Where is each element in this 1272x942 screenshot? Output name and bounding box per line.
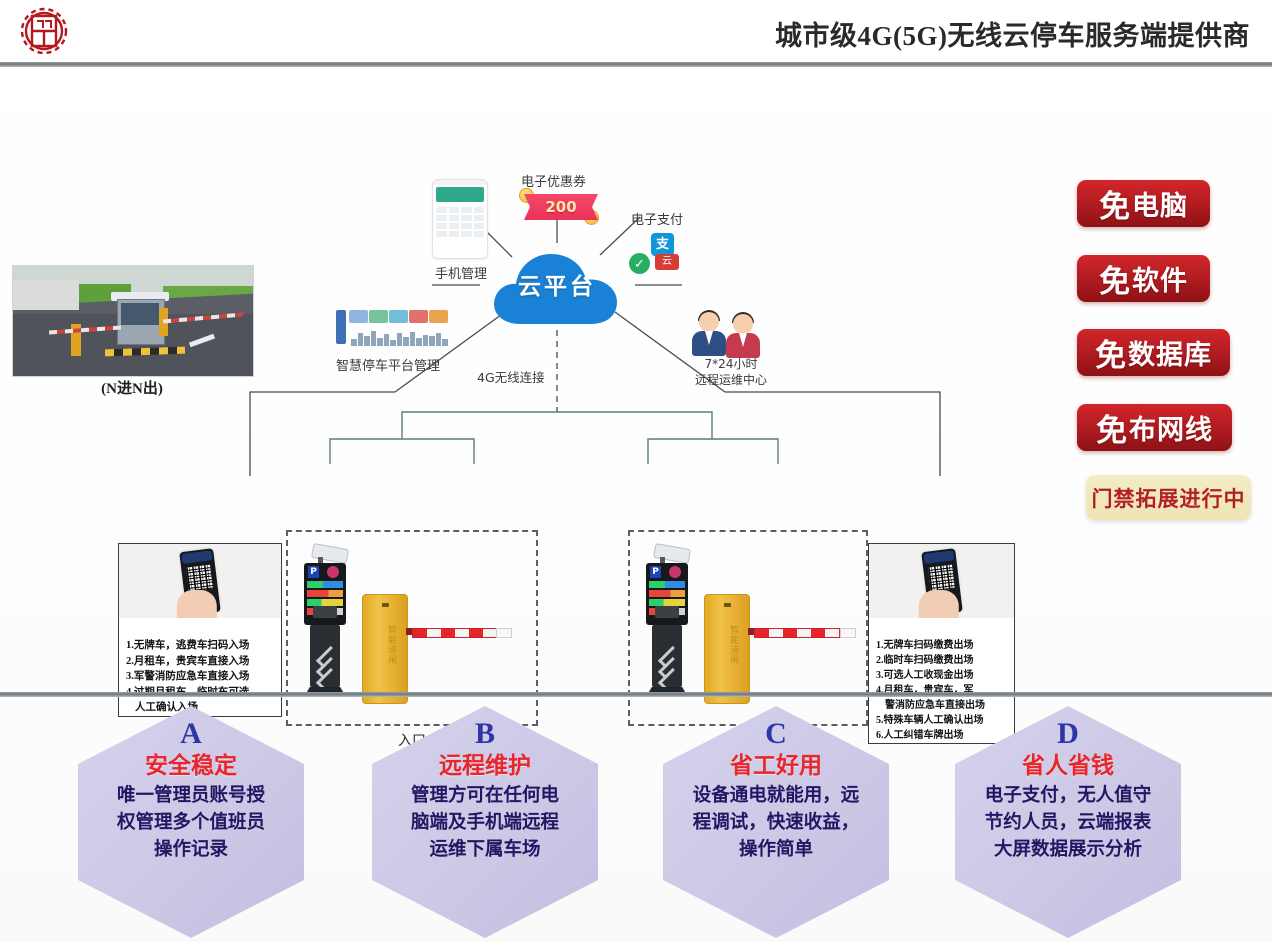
unionpay-icon: 云	[655, 254, 679, 270]
section-divider	[0, 692, 1272, 697]
badge-first-char: 免	[1096, 405, 1128, 450]
entrance-rules-box: 1.无牌车，逃费车扫码入场 2.月租车，贵宾车直接入场 3.军警消防应急车直接入…	[118, 543, 282, 717]
list-item: 1.无牌车扫码缴费出场	[876, 638, 1009, 653]
list-item: 2.月租车，贵宾车直接入场	[126, 654, 276, 670]
badge-no-network-cable: 免 布网线	[1077, 404, 1232, 451]
feature-hexagon-d: D 省人省钱 电子支付，无人值守 节约人员，云端报表 大屏数据展示分析	[955, 706, 1181, 938]
header-bar: 城市级4G(5G)无线云停车服务端提供商	[0, 0, 1272, 62]
alipay-icon: 支	[651, 233, 674, 256]
entrance-barrier-gate: 智能道闸	[362, 594, 406, 702]
parking-p-sign: P	[308, 566, 319, 578]
node-label-remote-ops-line1: 7*24小时	[676, 357, 786, 372]
parking-lot-photo	[12, 265, 254, 377]
badge-first-char: 免	[1099, 256, 1131, 301]
list-item: 3.可选人工收现金出场	[876, 668, 1009, 683]
list-item: 3.军警消防应急车直接入场	[126, 669, 276, 685]
qr-scan-photo	[869, 544, 1014, 618]
wireless-link-label: 4G无线连接	[474, 367, 548, 386]
support-agents-icon	[692, 312, 768, 356]
badge-text: 门禁拓展进行中	[1092, 483, 1246, 513]
coupon-icon: 200	[524, 190, 598, 224]
dashboard-icon	[336, 310, 448, 352]
feature-title: 省人省钱	[955, 752, 1181, 780]
feature-line: 唯一管理员账号授	[86, 783, 296, 810]
feature-letter: A	[78, 718, 304, 750]
wechat-pay-icon: ✓	[629, 253, 650, 274]
feature-letter: D	[955, 718, 1181, 750]
node-label-smart-parking-platform: 智慧停车平台管理	[336, 355, 440, 374]
feature-body: 电子支付，无人值守 节约人员，云端报表 大屏数据展示分析	[955, 783, 1181, 864]
parking-p-sign: P	[650, 566, 661, 578]
feature-body: 设备通电就能用，远 程调试，快速收益， 操作简单	[663, 783, 889, 864]
feature-line: 脑端及手机端远程	[380, 810, 590, 837]
badge-text: 电脑	[1132, 184, 1188, 223]
badge-no-software: 免 软件	[1077, 255, 1210, 302]
badge-no-computer: 免 电脑	[1077, 180, 1210, 227]
cloud-platform-label: 云平台	[487, 267, 627, 301]
list-item: 1.无牌车，逃费车扫码入场	[126, 638, 276, 654]
feature-letter: C	[663, 718, 889, 750]
company-gear-logo	[17, 5, 71, 57]
feature-letter: B	[372, 718, 598, 750]
poster-page: 城市级4G(5G)无线云停车服务端提供商	[0, 0, 1272, 942]
feature-line: 管理方可在任何电	[380, 783, 590, 810]
coupon-value: 200	[524, 198, 598, 216]
badge-access-control-expansion: 门禁拓展进行中	[1086, 475, 1251, 520]
feature-line: 操作记录	[86, 837, 296, 864]
qr-scan-photo	[119, 544, 281, 618]
badge-text: 布网线	[1129, 408, 1213, 447]
feature-hexagon-b: B 远程维护 管理方可在任何电 脑端及手机端远程 运维下属车场	[372, 706, 598, 938]
feature-line: 程调试，快速收益，	[671, 810, 881, 837]
photo-caption: (N进N出)	[12, 377, 252, 398]
node-label-phone-management: 手机管理	[435, 263, 487, 282]
feature-body: 唯一管理员账号授 权管理多个值班员 操作记录	[78, 783, 304, 864]
entrance-barrier-arm	[412, 628, 498, 638]
feature-line: 操作简单	[671, 837, 881, 864]
feature-line: 电子支付，无人值守	[963, 783, 1173, 810]
node-label-remote-ops-line2: 远程运维中心	[676, 373, 786, 388]
feature-line: 权管理多个值班员	[86, 810, 296, 837]
feature-title: 安全稳定	[78, 752, 304, 780]
node-label-e-payment: 电子支付	[631, 209, 683, 228]
badge-no-database: 免 数据库	[1077, 329, 1230, 376]
badge-first-char: 免	[1099, 181, 1131, 226]
feature-line: 节约人员，云端报表	[963, 810, 1173, 837]
list-item: 2.临时车扫码缴费出场	[876, 653, 1009, 668]
mobile-app-icon	[432, 179, 488, 259]
entrance-lpr-camera-pole: P	[304, 546, 346, 704]
feature-line: 设备通电就能用，远	[671, 783, 881, 810]
feature-line: 大屏数据展示分析	[963, 837, 1173, 864]
exit-barrier-arm	[754, 628, 842, 638]
node-label-e-coupon: 电子优惠券	[521, 171, 586, 190]
features-row: A 安全稳定 唯一管理员账号授 权管理多个值班员 操作记录 B 远程维护 管理方…	[0, 700, 1272, 942]
feature-hexagon-c: C 省工好用 设备通电就能用，远 程调试，快速收益， 操作简单	[663, 706, 889, 938]
badge-text: 数据库	[1128, 333, 1212, 372]
feature-title: 远程维护	[372, 752, 598, 780]
feature-title: 省工好用	[663, 752, 889, 780]
page-title: 城市级4G(5G)无线云停车服务端提供商	[775, 14, 1250, 53]
feature-body: 管理方可在任何电 脑端及手机端远程 运维下属车场	[372, 783, 598, 864]
exit-barrier-gate: 智能道闸	[704, 594, 748, 702]
feature-hexagon-a: A 安全稳定 唯一管理员账号授 权管理多个值班员 操作记录	[78, 706, 304, 938]
feature-line: 运维下属车场	[380, 837, 590, 864]
architecture-diagram: (N进N出) 智慧停车平台管理	[0, 67, 1272, 692]
badge-text: 软件	[1132, 259, 1188, 298]
exit-lpr-camera-pole: P	[646, 546, 688, 704]
badge-first-char: 免	[1095, 330, 1127, 375]
